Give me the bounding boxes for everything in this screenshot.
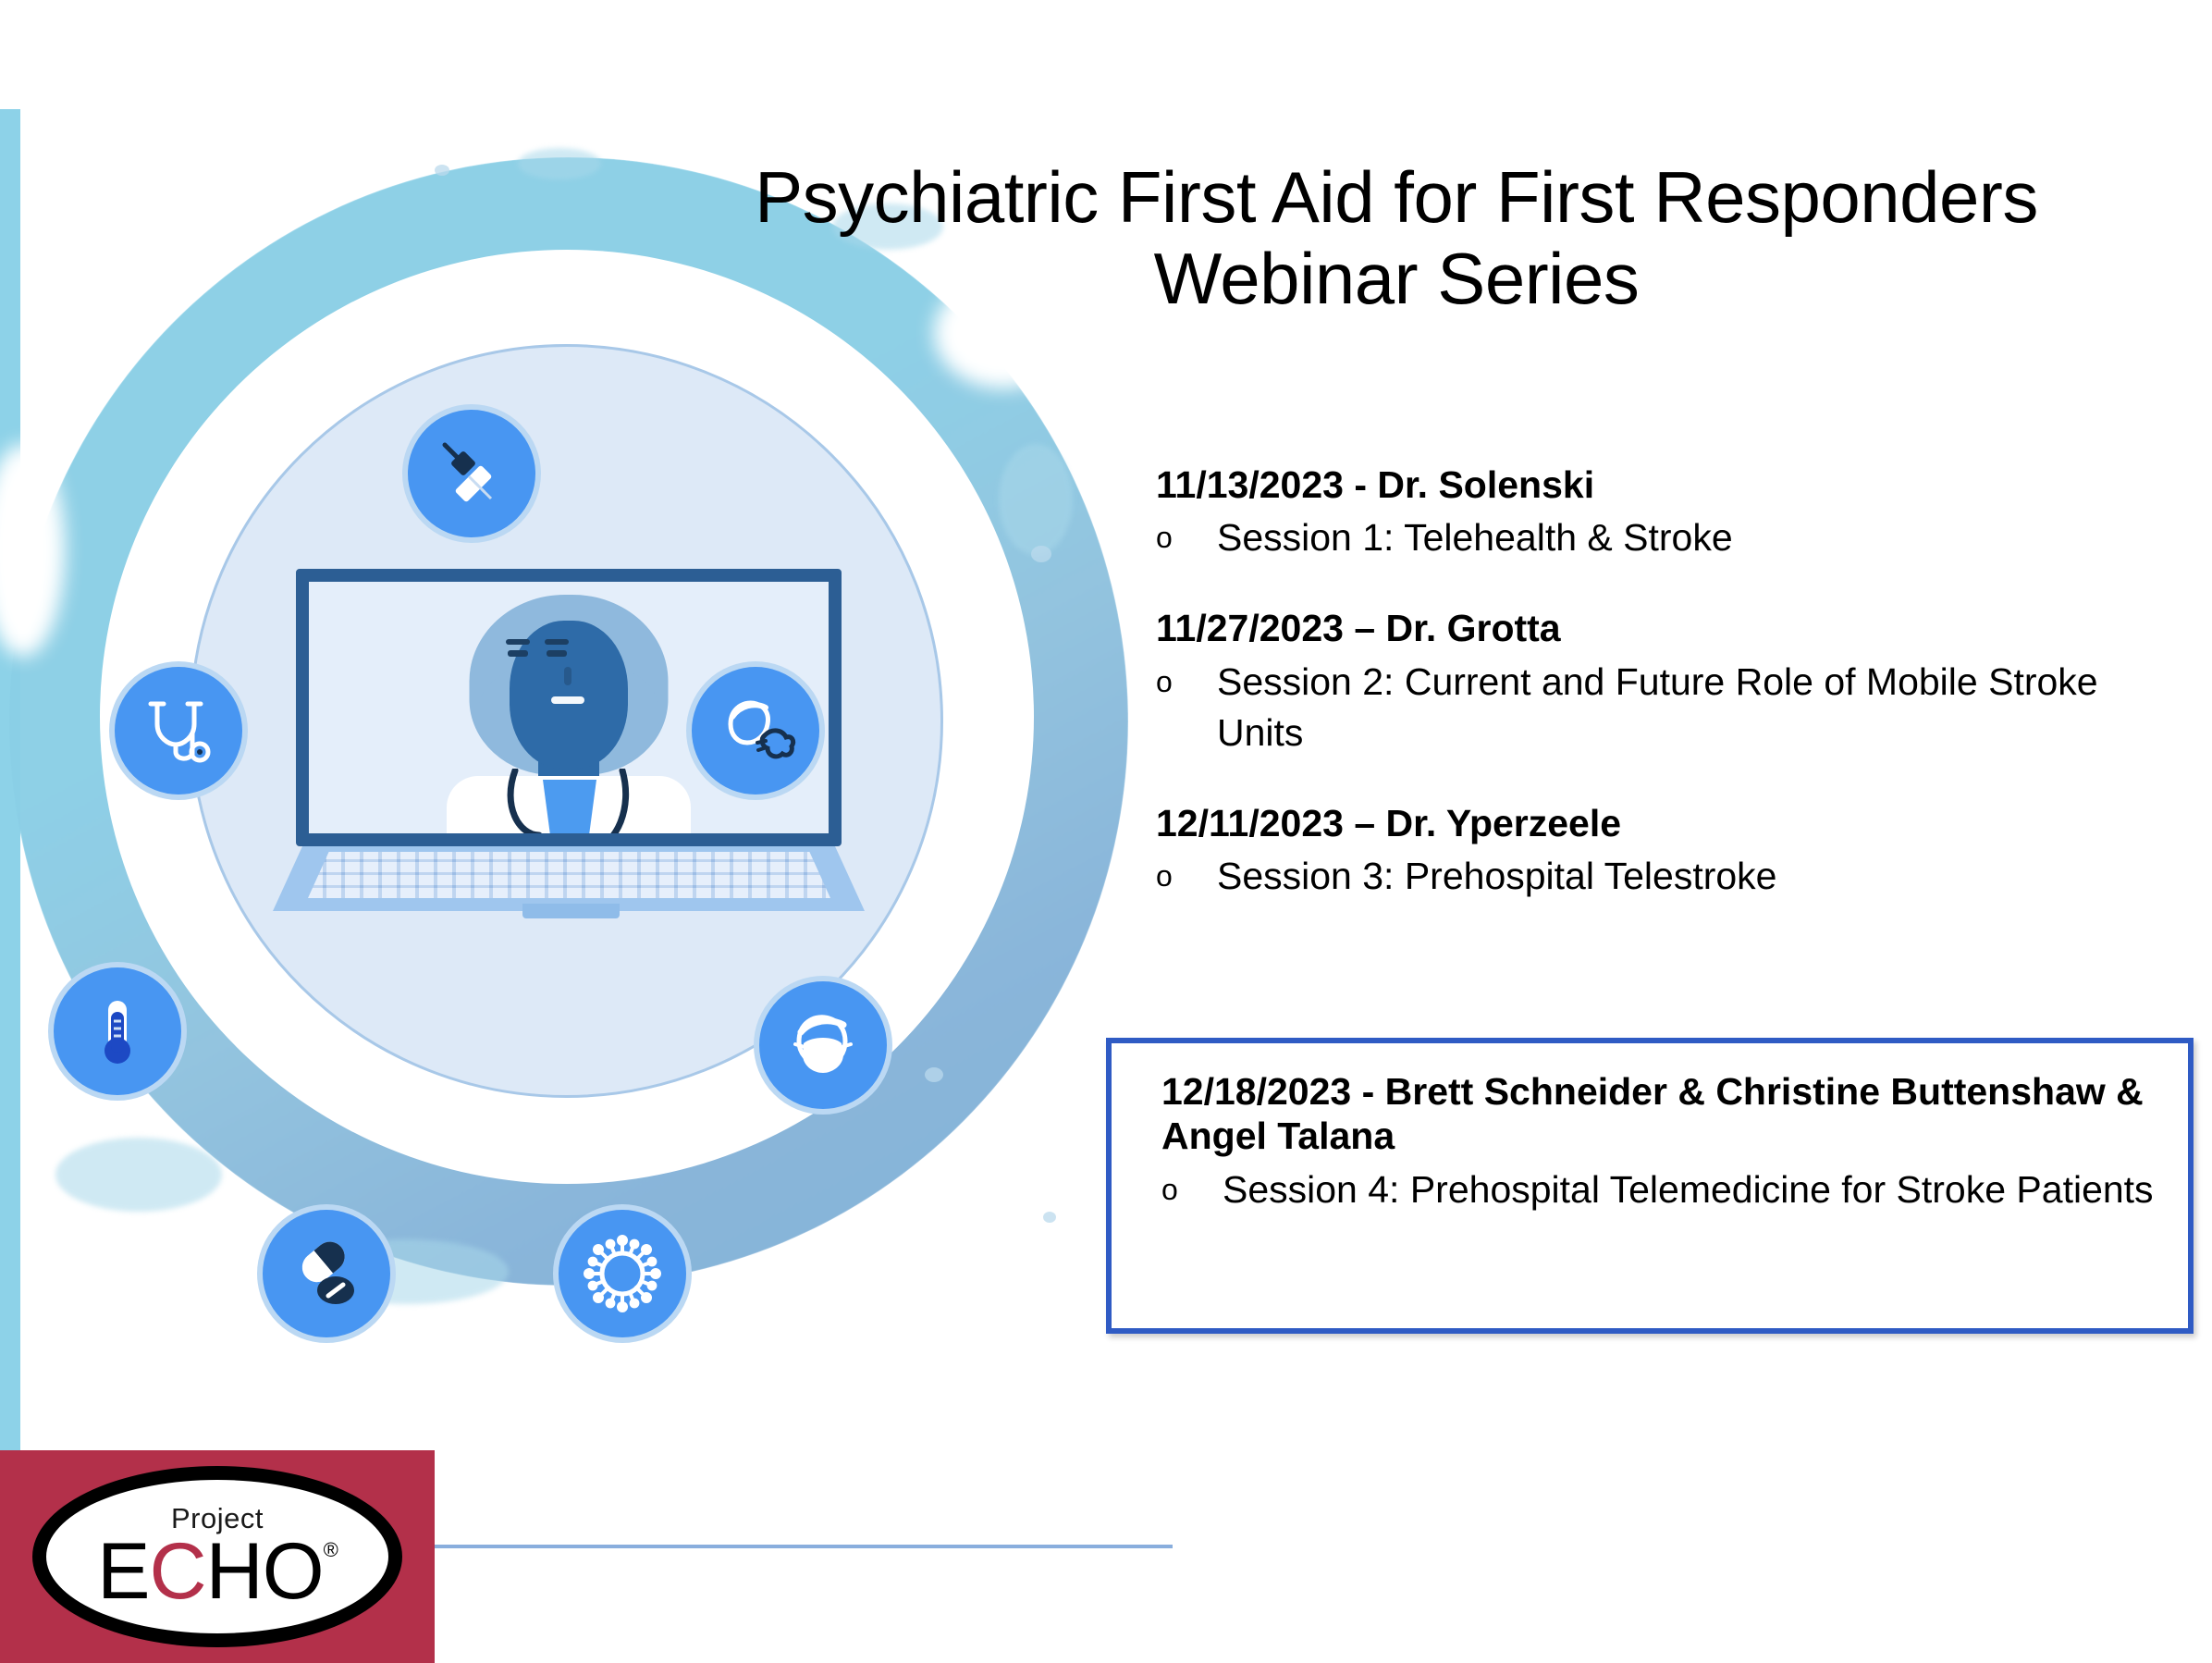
session-title: Session 3: Prehospital Telestroke <box>1217 851 2192 902</box>
session-date-presenter: 12/11/2023 – Dr. Yperzeele <box>1156 801 2192 845</box>
doctor-mouth <box>551 696 584 704</box>
icon-bubble-thermometer <box>48 962 187 1101</box>
logo-letter-h: H <box>206 1534 263 1610</box>
thermometer-icon <box>80 993 155 1069</box>
session-title: Session 4: Prehospital Telemedicine for … <box>1223 1164 2166 1215</box>
session-bullet-icon: o <box>1156 512 1217 558</box>
face-mask-person-icon <box>780 1003 866 1088</box>
icon-bubble-coughing-person <box>686 661 825 800</box>
footer-divider-line <box>435 1545 1173 1548</box>
stethoscope-icon <box>485 769 652 846</box>
page-title-line-2: Webinar Series <box>1154 238 1640 319</box>
doctor-avatar <box>430 595 707 846</box>
session-detail-row: o Session 4: Prehospital Telemedicine fo… <box>1161 1164 2166 1215</box>
session-title: Session 1: Telehealth & Stroke <box>1217 512 2192 563</box>
session-bullet-icon: o <box>1156 851 1217 896</box>
icon-bubble-syringe <box>402 404 541 543</box>
session-bullet-icon: o <box>1161 1164 1223 1210</box>
session-detail-row: o Session 1: Telehealth & Stroke <box>1156 512 2192 563</box>
doctor-nose <box>564 667 571 685</box>
logo-letter-o: O <box>263 1534 324 1610</box>
doctor-eye-left <box>508 650 528 657</box>
icon-bubble-virus <box>553 1204 692 1343</box>
logo-letter-c: C <box>150 1534 206 1610</box>
registered-trademark-icon: ® <box>324 1540 338 1560</box>
watercolor-dot <box>925 1067 943 1082</box>
watercolor-splatter <box>55 1138 222 1212</box>
session-entry: 11/13/2023 - Dr. Solenski o Session 1: T… <box>1156 462 2192 563</box>
virus-icon <box>580 1231 665 1316</box>
coughing-person-icon <box>712 687 799 774</box>
laptop-stand <box>522 904 620 918</box>
watercolor-splatter <box>999 444 1073 555</box>
project-echo-logo: Project ECHO® <box>0 1450 435 1663</box>
watercolor-dot <box>1043 1212 1056 1223</box>
session-detail-row: o Session 2: Current and Future Role of … <box>1156 657 2192 758</box>
icon-bubble-stethoscope <box>109 661 248 800</box>
syringe-icon <box>432 434 511 513</box>
webinar-schedule-list: 11/13/2023 - Dr. Solenski o Session 1: T… <box>1156 462 2192 902</box>
session-date-presenter: 12/18/2023 - Brett Schneider & Christine… <box>1161 1069 2166 1159</box>
session-date-presenter: 11/13/2023 - Dr. Solenski <box>1156 462 2192 507</box>
session-bullet-icon: o <box>1156 657 1217 702</box>
watercolor-dot <box>1031 546 1051 562</box>
doctor-eyebrow-right <box>545 639 569 645</box>
doctor-eye-right <box>547 650 567 657</box>
session-date-presenter: 11/27/2023 – Dr. Grotta <box>1156 606 2192 650</box>
doctor-eyebrow-left <box>506 639 530 645</box>
session-entry: 11/27/2023 – Dr. Grotta o Session 2: Cur… <box>1156 606 2192 758</box>
page-title-line-1: Psychiatric First Aid for First Responde… <box>755 156 2038 238</box>
page-title: Psychiatric First Aid for First Responde… <box>610 157 2182 319</box>
logo-letter-e: E <box>97 1534 149 1610</box>
session-entry: 12/11/2023 – Dr. Yperzeele o Session 3: … <box>1156 801 2192 902</box>
stethoscope-icon <box>139 691 218 770</box>
pills-icon <box>286 1233 367 1314</box>
laptop-keyboard <box>308 852 830 898</box>
telehealth-illustration <box>0 139 1184 1415</box>
icon-bubble-pills <box>257 1204 396 1343</box>
logo-echo-word: ECHO® <box>97 1534 338 1610</box>
session-detail-row: o Session 3: Prehospital Telestroke <box>1156 851 2192 902</box>
watercolor-dot <box>435 165 449 176</box>
highlighted-session-box: 12/18/2023 - Brett Schneider & Christine… <box>1106 1038 2194 1334</box>
watercolor-splatter <box>518 148 601 179</box>
icon-bubble-face-mask-person <box>754 976 892 1115</box>
session-entry: 12/18/2023 - Brett Schneider & Christine… <box>1161 1069 2166 1215</box>
session-title: Session 2: Current and Future Role of Mo… <box>1217 657 2192 758</box>
logo-oval: Project ECHO® <box>32 1466 402 1647</box>
